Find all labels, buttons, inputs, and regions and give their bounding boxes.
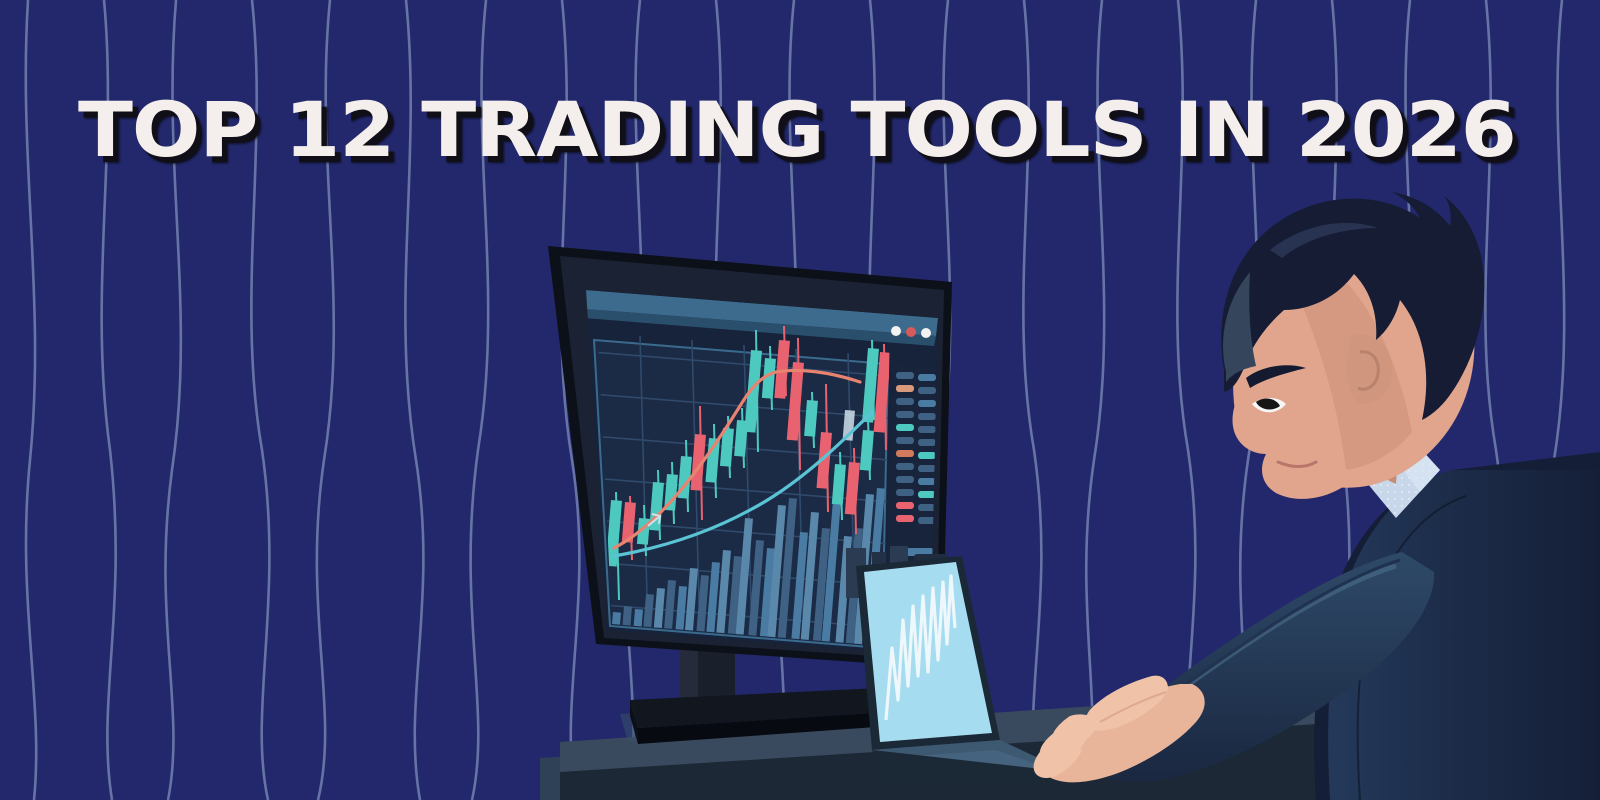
banner-root: TOP 12 TRADING TOOLS IN 2026 [0,0,1600,800]
headline-layer: TOP 12 TRADING TOOLS IN 2026 [0,0,1600,800]
page-title: TOP 12 TRADING TOOLS IN 2026 [78,85,1516,174]
